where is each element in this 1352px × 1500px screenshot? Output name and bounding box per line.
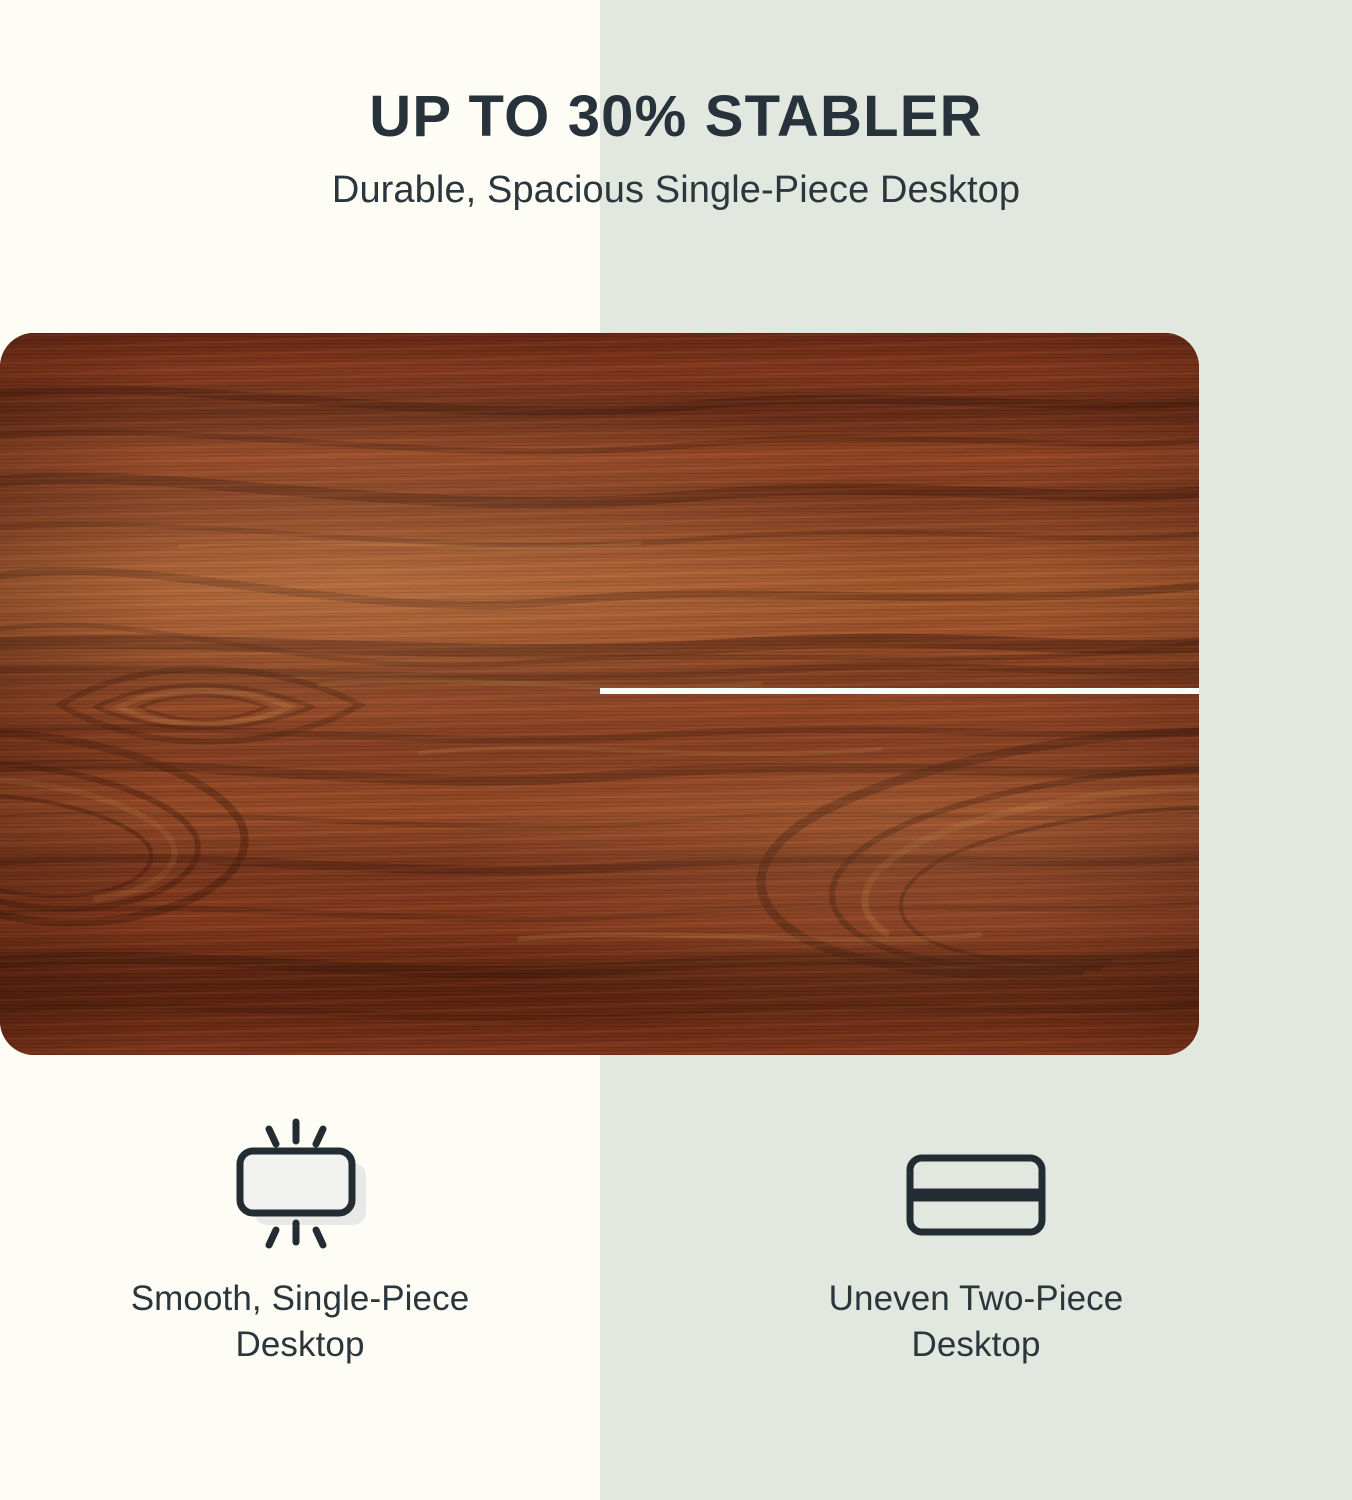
two-piece-caption: Uneven Two-Piece Desktop — [829, 1276, 1124, 1367]
page-title: UP TO 30% STABLER — [0, 86, 1352, 147]
wood-desktop-image — [0, 333, 1199, 1055]
two-piece-seam-line — [600, 688, 1199, 694]
wood-grain-texture — [0, 333, 1199, 1055]
single-piece-caption: Smooth, Single-Piece Desktop — [131, 1276, 470, 1367]
comparison-row: Smooth, Single-Piece Desktop Uneven Two-… — [0, 1105, 1352, 1435]
comparison-column-single-piece: Smooth, Single-Piece Desktop — [0, 1105, 600, 1435]
two-piece-desktop-split-icon — [888, 1113, 1064, 1263]
single-piece-desktop-sparkle-icon — [212, 1113, 388, 1263]
two-piece-caption-line2: Desktop — [829, 1322, 1124, 1368]
two-piece-icon-slot — [888, 1105, 1064, 1270]
single-piece-icon-slot — [212, 1105, 388, 1270]
comparison-column-two-piece: Uneven Two-Piece Desktop — [600, 1105, 1352, 1435]
two-piece-caption-line1: Uneven Two-Piece — [829, 1276, 1124, 1322]
header-block: UP TO 30% STABLER Durable, Spacious Sing… — [0, 0, 1352, 213]
single-piece-caption-line1: Smooth, Single-Piece — [131, 1276, 470, 1322]
infographic-panel: UP TO 30% STABLER Durable, Spacious Sing… — [0, 0, 1352, 1500]
single-piece-caption-line2: Desktop — [131, 1322, 470, 1368]
page-subtitle: Durable, Spacious Single-Piece Desktop — [0, 169, 1352, 213]
